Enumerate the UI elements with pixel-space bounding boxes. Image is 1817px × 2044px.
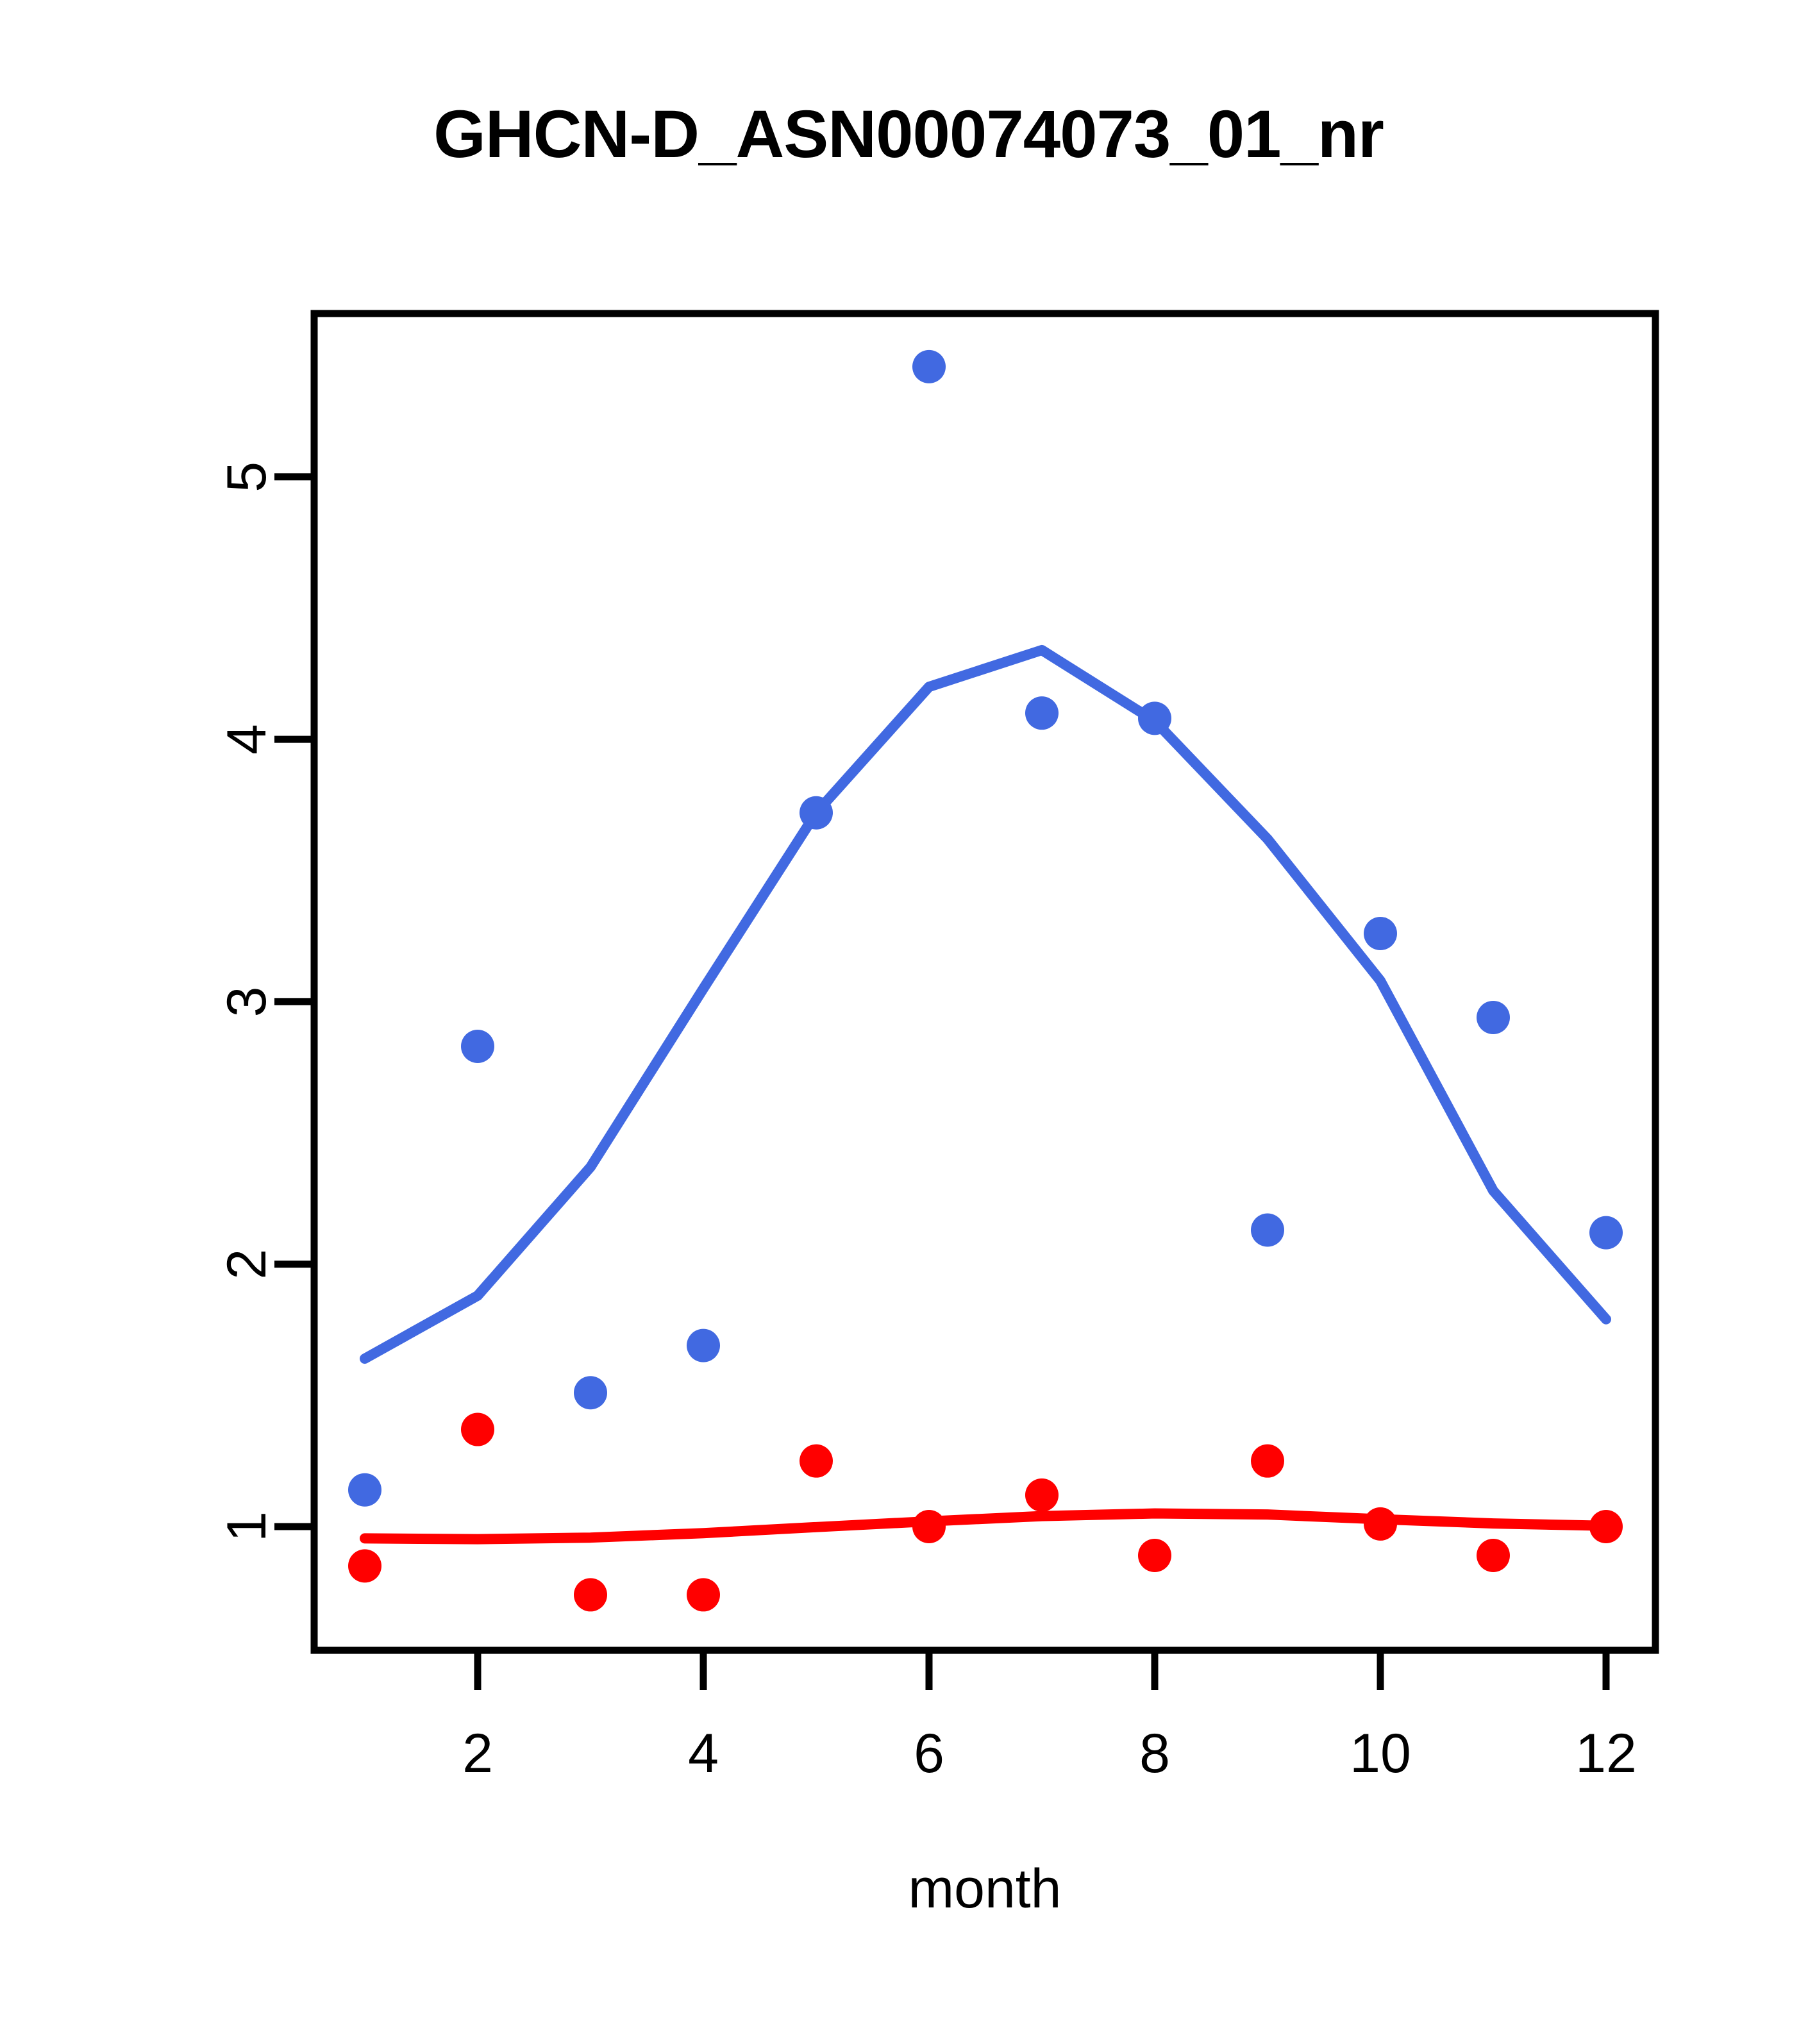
data-point [800,796,833,830]
data-point [348,1549,381,1582]
data-point [348,1473,381,1507]
x-tick-label: 6 [914,1723,944,1784]
series-line-blue-line [365,650,1606,1359]
data-point [1138,701,1171,735]
data-point [1025,696,1059,730]
y-tick-label: 3 [216,986,278,1017]
x-axis-title: month [908,1858,1061,1920]
data-point [1589,1510,1623,1543]
data-point [1251,1445,1284,1478]
series-lines [365,650,1606,1539]
data-point [687,1329,720,1362]
y-axis-ticks [274,477,314,1527]
data-point [912,1510,946,1543]
x-tick-label: 12 [1575,1723,1637,1784]
x-tick-label: 8 [1139,1723,1170,1784]
data-point [574,1578,607,1611]
series-points [348,350,1623,1612]
data-point [461,1030,494,1063]
data-point [461,1413,494,1446]
data-point [1025,1479,1059,1512]
data-point [1364,1507,1397,1541]
plot-area: 12345 24681012 month [0,0,1817,2044]
data-point [1477,1001,1510,1034]
chart-page: GHCN-D_ASN00074073_01_nr 12345 24681012 … [0,0,1817,2044]
data-point [1138,1539,1171,1572]
plot-frame [314,314,1655,1650]
series-line-red-line [365,1514,1606,1539]
data-point [1477,1539,1510,1572]
x-axis-ticks [478,1650,1606,1690]
x-tick-label: 4 [688,1723,719,1784]
y-axis-tick-labels: 12345 [216,462,278,1542]
data-point [1364,917,1397,950]
y-tick-label: 2 [216,1249,278,1280]
data-point [574,1376,607,1409]
y-tick-label: 1 [216,1511,278,1542]
x-axis-tick-labels: 24681012 [462,1723,1637,1784]
data-point [687,1578,720,1611]
x-tick-label: 2 [462,1723,493,1784]
x-tick-label: 10 [1350,1723,1411,1784]
chart-canvas: 12345 24681012 month [0,0,1817,2044]
data-point [800,1445,833,1478]
y-tick-label: 4 [216,724,278,755]
data-point [1251,1213,1284,1246]
data-point [1589,1216,1623,1250]
data-point [912,350,946,383]
y-tick-label: 5 [216,462,278,492]
